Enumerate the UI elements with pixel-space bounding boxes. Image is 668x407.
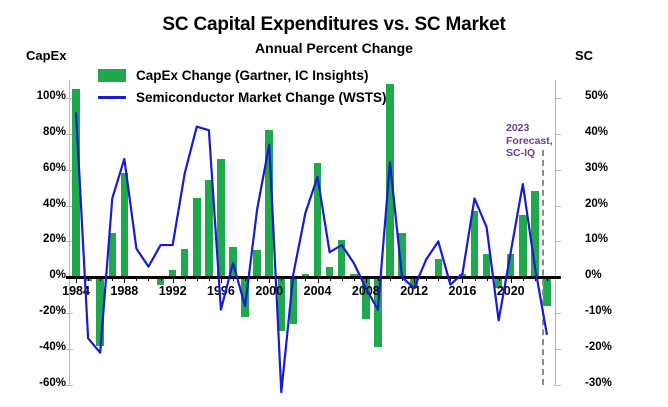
- chart-root: SC Capital Expenditures vs. SC Market An…: [0, 0, 668, 407]
- market-change-line-series: [0, 0, 668, 407]
- market-change-polyline: [76, 112, 547, 392]
